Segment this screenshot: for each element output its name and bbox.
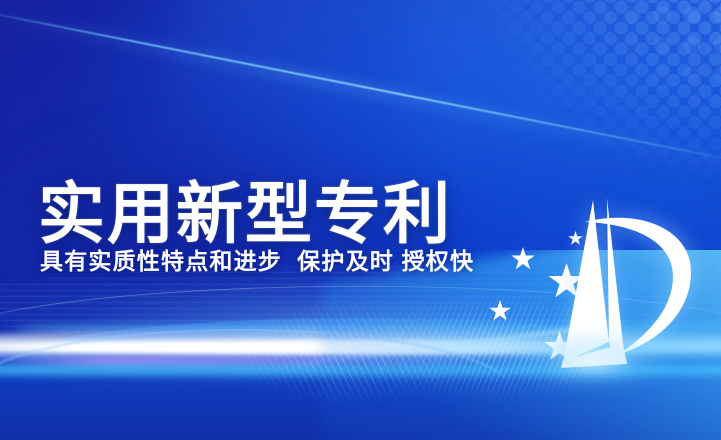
diagonal-light-streak (0, 6, 721, 167)
logo-base-glow (509, 330, 679, 390)
wave-violet-band (0, 356, 505, 368)
line-hatching-right (281, 286, 661, 436)
line-hatching-secondary (201, 292, 501, 412)
wave-glow (0, 268, 721, 388)
page-title: 实用新型专利 (38, 181, 452, 248)
cyan-slope-right (321, 250, 721, 440)
wave-white-band (0, 326, 721, 366)
star-large-icon (548, 263, 585, 300)
halftone-dots-pattern (411, 0, 721, 226)
ground-plane (0, 318, 721, 440)
ground-rim-highlight (0, 286, 721, 406)
wave-cyan-lower (0, 360, 721, 380)
star-small-top-icon (568, 231, 583, 246)
star-small-left-icon (489, 300, 511, 322)
wave-hairlines (0, 266, 721, 344)
halftone-dots-pattern-large (491, 0, 721, 169)
ground-arc-lines (0, 330, 520, 440)
wave-core-line (0, 341, 721, 354)
diagonal-light-streak-glow (0, 2, 721, 175)
star-cluster (473, 214, 623, 374)
star-medium-upper-icon (511, 247, 535, 271)
background-sheen-right (408, 0, 721, 188)
patent-tower-p-logo (523, 192, 713, 382)
logo-light-ray (273, 325, 601, 368)
page-subtitle: 具有实质性特点和进步 保护及时 授权快 (40, 250, 474, 273)
patent-banner: 实用新型专利 具有实质性特点和进步 保护及时 授权快 (0, 0, 721, 440)
star-medium-lower-icon (544, 331, 575, 362)
wave-cyan-upper (14, 320, 721, 336)
light-wave-group (0, 250, 721, 440)
